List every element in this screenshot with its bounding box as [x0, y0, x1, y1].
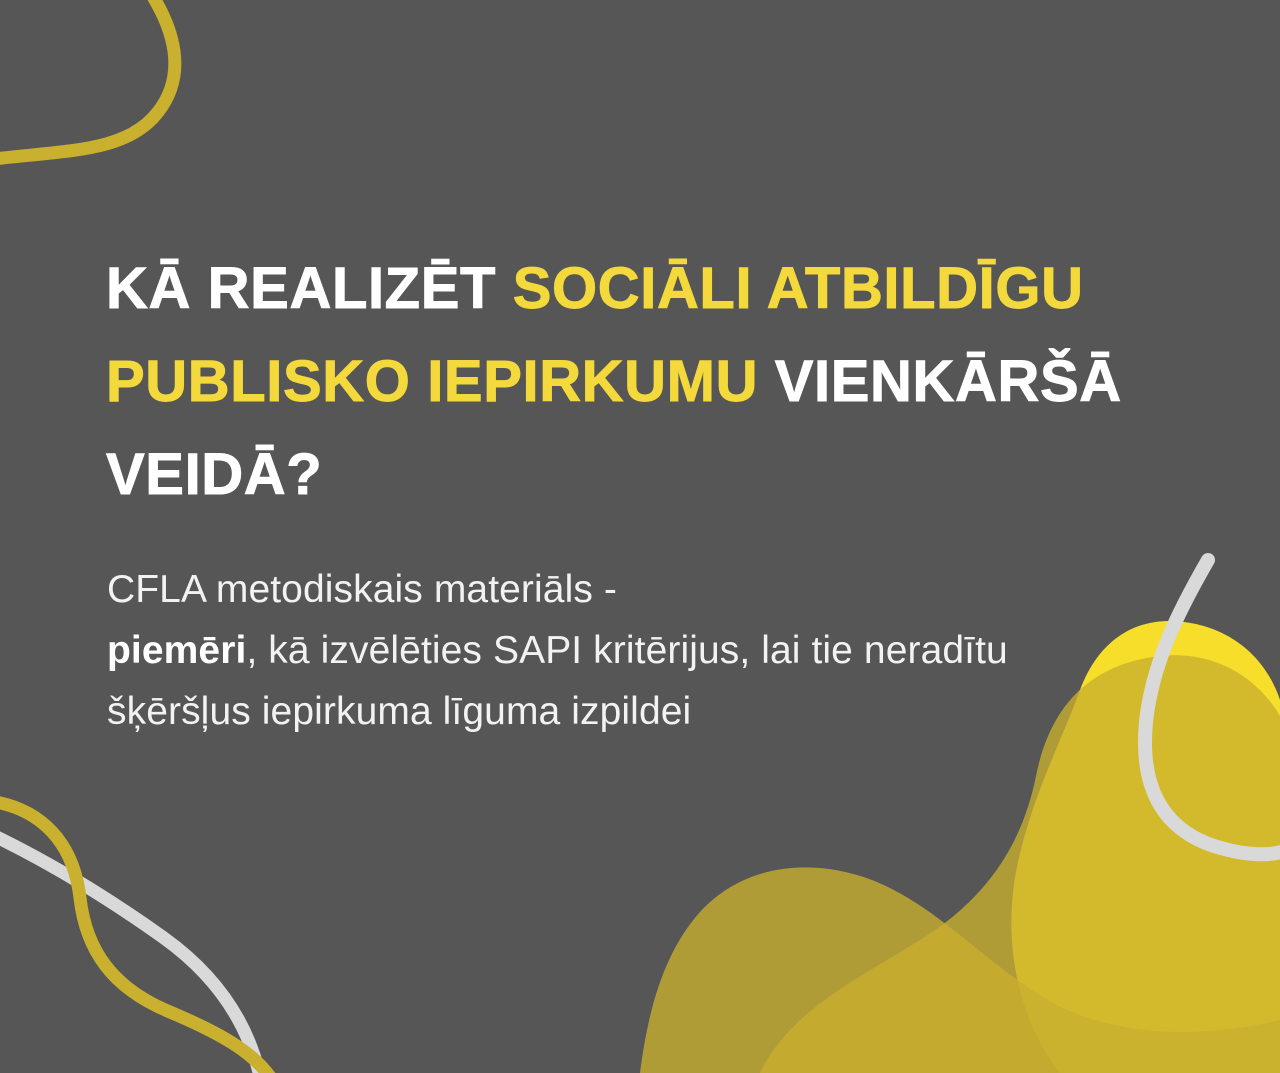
bottom-left-gold-curve	[0, 800, 276, 1073]
subtitle-line-1: CFLA metodiskais materiāls -	[107, 568, 617, 611]
headline-part-white-1: KĀ REALIZĒT	[106, 256, 513, 321]
bottom-left-gray-curve	[0, 830, 262, 1073]
foreground-decoration-layer	[0, 0, 1280, 1073]
subtitle-emphasis: piemēri	[107, 629, 246, 672]
bottom-right-olive-blob-lower	[640, 867, 1280, 1073]
page-title: KĀ REALIZĒT SOCIĀLI ATBILDĪGU PUBLISKO I…	[106, 242, 1166, 521]
subtitle: CFLA metodiskais materiāls - piemēri, kā…	[107, 559, 1057, 742]
poster-canvas: KĀ REALIZĒT SOCIĀLI ATBILDĪGU PUBLISKO I…	[0, 0, 1280, 1073]
top-left-gold-curve	[0, 0, 175, 160]
background-decoration-layer	[0, 0, 1280, 1073]
bottom-right-gray-curve	[1145, 560, 1280, 854]
